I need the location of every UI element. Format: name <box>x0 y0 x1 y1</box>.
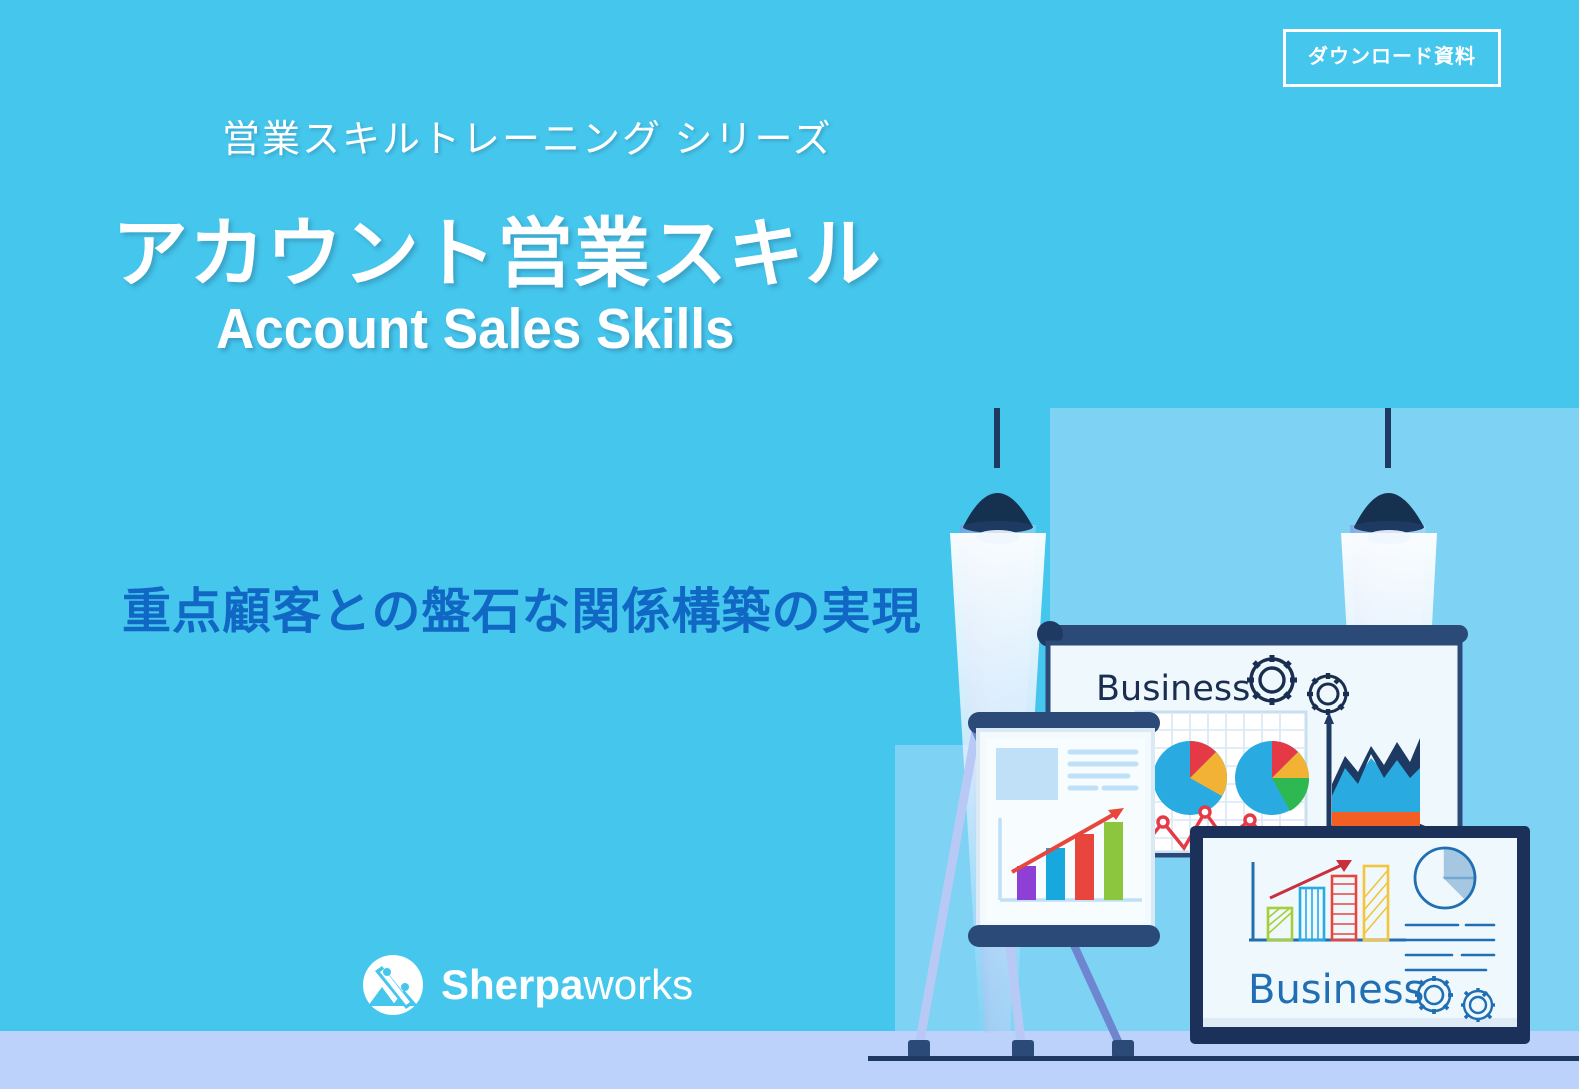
page-title-jp: アカウント営業スキル <box>112 192 882 302</box>
sherpaworks-logo[interactable]: Sherpaworks <box>362 954 693 1016</box>
image-placeholder <box>996 748 1058 800</box>
logo-name-bold: Sherpa <box>441 961 583 1008</box>
logo-name-light: works <box>583 961 693 1008</box>
monitor-heading: Business <box>1248 967 1424 1013</box>
office-illustration: Business <box>0 0 1579 1089</box>
slide-root: Business <box>0 0 1579 1089</box>
logo-wordmark: Sherpaworks <box>441 964 693 1006</box>
page-title-en: Account Sales Skills <box>216 296 735 362</box>
series-label: 営業スキルトレーニング シリーズ <box>222 108 833 163</box>
sherpa-logo-icon <box>362 954 424 1016</box>
ground-line <box>868 1056 1579 1061</box>
download-material-badge[interactable]: ダウンロード資料 <box>1283 29 1501 87</box>
flipchart-easel <box>908 712 1160 1058</box>
pie-chart <box>1153 741 1227 815</box>
whiteboard-heading: Business <box>1096 669 1250 709</box>
pie-chart <box>1235 741 1309 815</box>
tagline: 重点顧客との盤石な関係構築の実現 <box>122 572 922 643</box>
monitor-tablet: Business <box>1190 826 1530 1044</box>
